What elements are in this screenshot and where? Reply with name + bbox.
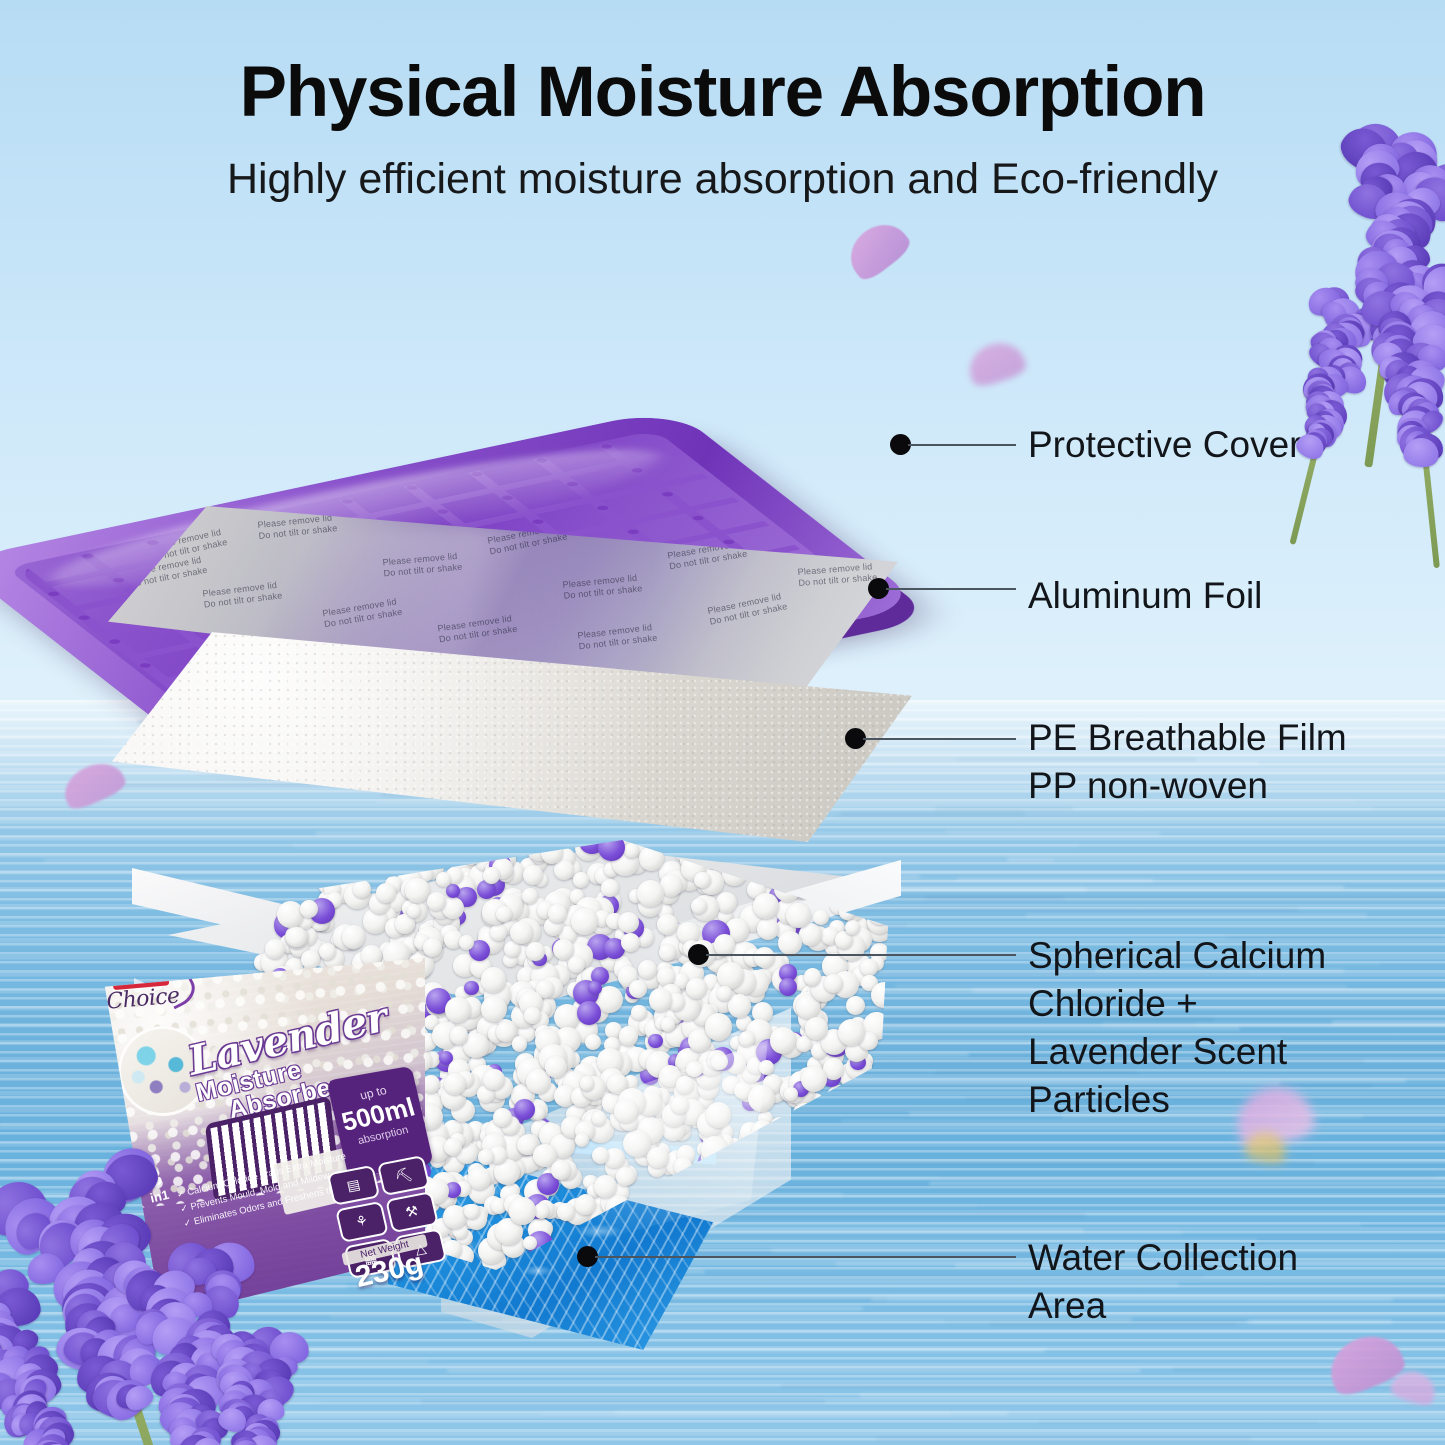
absorber-bead <box>786 903 811 928</box>
absorber-bead <box>811 1224 836 1249</box>
absorber-bead <box>795 1229 821 1255</box>
sea-ripple <box>834 814 1445 817</box>
product-infographic: Physical Moisture Absorption Highly effi… <box>0 0 1445 1445</box>
absorber-bead <box>819 1229 840 1250</box>
absorber-bead <box>436 872 451 887</box>
absorber-bead <box>839 1150 854 1165</box>
absorber-bead <box>746 1213 765 1232</box>
absorber-bead <box>758 1214 785 1241</box>
absorber-bead <box>859 1176 885 1202</box>
absorber-bead <box>857 1166 875 1184</box>
absorber-bead <box>575 1133 589 1147</box>
absorber-bead <box>805 844 830 869</box>
absorber-bead <box>624 843 639 858</box>
absorber-bead <box>807 841 834 868</box>
absorber-bead <box>601 879 619 897</box>
absorber-bead <box>806 1122 830 1146</box>
absorber-bead <box>860 1211 880 1231</box>
absorber-bead <box>865 1134 884 1153</box>
leader-line-water-collection <box>595 1256 1016 1258</box>
sea-ripple <box>1173 1368 1445 1371</box>
absorber-bead <box>512 1036 528 1052</box>
absorber-bead <box>739 1031 755 1047</box>
absorber-bead <box>826 1109 850 1133</box>
callout-aluminum-foil: Aluminum Foil <box>1028 572 1262 620</box>
absorber-bead <box>780 851 794 865</box>
absorber-bead <box>846 1137 867 1158</box>
absorber-bead <box>834 1228 857 1251</box>
absorber-bead <box>417 843 436 862</box>
absorber-bead <box>769 1203 795 1229</box>
sea-ripple <box>1038 1421 1319 1424</box>
foil-text-line: Please remove lidDo not tilt or shake <box>202 579 283 610</box>
absorber-bead <box>325 865 340 880</box>
absorber-bead <box>873 1125 889 1141</box>
absorber-bead <box>575 1195 596 1216</box>
absorber-bead <box>847 851 865 869</box>
absorber-bead <box>659 944 676 961</box>
absorber-bead <box>804 1142 821 1159</box>
absorber-bead <box>286 927 306 947</box>
absorber-bead <box>629 980 647 998</box>
absorber-bead <box>867 909 892 934</box>
absorber-bead <box>832 1097 856 1121</box>
absorber-bead <box>824 974 843 993</box>
absorber-bead <box>809 1236 826 1253</box>
callout-water-collection: Water Collection Area <box>1028 1234 1298 1330</box>
absorber-bead <box>523 865 543 885</box>
absorber-bead <box>444 1073 466 1095</box>
absorber-bead <box>377 849 403 875</box>
absorber-bead <box>822 1130 846 1154</box>
sea-ripple <box>615 1411 1445 1414</box>
absorber-bead <box>702 838 726 862</box>
page-subtitle: Highly efficient moisture absorption and… <box>0 155 1445 204</box>
absorber-bead <box>843 1120 869 1146</box>
absorber-bead <box>858 838 882 862</box>
absorber-bead <box>869 904 891 926</box>
absorber-bead <box>719 1221 736 1238</box>
absorber-bead <box>797 843 818 864</box>
absorber-bead <box>821 850 846 875</box>
absorber-bead <box>501 839 516 854</box>
absorber-bead <box>468 1167 491 1190</box>
absorber-bead <box>300 900 318 918</box>
leader-line-calcium-chloride <box>706 954 1016 956</box>
absorber-bead <box>815 1155 835 1175</box>
absorber-bead <box>588 981 602 995</box>
absorber-bead <box>872 1140 889 1157</box>
sea-ripple <box>946 830 1445 833</box>
absorber-bead <box>850 1113 874 1137</box>
absorber-bead <box>787 1232 812 1257</box>
absorber-bead <box>788 1184 805 1201</box>
absorber-bead <box>336 844 355 863</box>
absorber-bead <box>511 838 525 852</box>
absorber-bead <box>820 1209 841 1230</box>
absorber-bead <box>851 1121 874 1144</box>
absorber-bead <box>865 1228 880 1243</box>
absorber-bead <box>804 968 821 985</box>
absorber-bead <box>545 1056 567 1078</box>
absorber-bead <box>849 854 865 870</box>
absorber-bead <box>649 988 673 1012</box>
absorber-bead <box>775 1223 789 1237</box>
absorber-bead <box>459 935 474 950</box>
sea-ripple <box>860 1394 1445 1397</box>
absorber-bead <box>446 884 460 898</box>
absorber-bead <box>619 1026 639 1046</box>
absorber-bead <box>818 1140 845 1167</box>
absorber-bead <box>878 1218 893 1233</box>
absorber-bead <box>873 1163 891 1181</box>
absorber-bead <box>319 943 336 960</box>
absorber-bead <box>802 849 816 863</box>
absorber-bead <box>342 925 366 949</box>
absorber-bead <box>874 1182 892 1200</box>
sea-ripple <box>876 1437 1251 1440</box>
absorber-bead <box>813 841 831 859</box>
absorber-bead <box>753 893 779 919</box>
absorber-bead <box>815 1154 835 1174</box>
absorber-bead <box>813 910 828 925</box>
absorber-bead <box>820 1248 847 1275</box>
absorber-bead <box>324 857 347 880</box>
sea-ripple <box>421 1400 825 1403</box>
leader-line-protective-cover <box>908 444 1016 446</box>
absorber-bead <box>832 1107 858 1133</box>
absorber-bead <box>782 1223 806 1247</box>
absorber-bead <box>631 1005 646 1020</box>
page-title: Physical Moisture Absorption <box>0 52 1445 133</box>
absorber-bead <box>849 1117 873 1141</box>
absorber-bead <box>462 846 481 865</box>
absorber-bead <box>661 1017 676 1032</box>
absorber-bead <box>801 1066 828 1093</box>
absorber-bead <box>860 959 878 977</box>
absorber-bead <box>808 1181 828 1201</box>
absorber-bead <box>801 1159 820 1178</box>
absorber-bead <box>417 846 438 867</box>
absorber-bead <box>451 844 469 862</box>
absorber-bead <box>771 1219 798 1246</box>
absorber-bead <box>864 1210 882 1228</box>
absorber-bead <box>732 1225 748 1241</box>
absorber-bead <box>827 1178 843 1194</box>
absorber-bead <box>828 1229 845 1246</box>
absorber-bead <box>838 1019 865 1046</box>
absorber-bead <box>871 1199 892 1220</box>
absorber-bead <box>483 867 500 884</box>
callout-pe-breathable-film: PE Breathable Film PP non-woven <box>1028 714 1347 810</box>
absorber-bead <box>806 1175 825 1194</box>
absorber-bead <box>876 1233 899 1256</box>
absorber-bead <box>686 978 707 999</box>
absorber-bead <box>526 942 545 961</box>
absorber-bead <box>867 1074 884 1091</box>
absorber-bead <box>840 1196 858 1214</box>
absorber-bead <box>841 1179 856 1194</box>
absorber-bead <box>524 1007 540 1023</box>
lavender-sprig <box>178 1314 333 1445</box>
absorber-bead <box>810 1167 832 1189</box>
sea-ripple <box>938 1175 1434 1178</box>
absorber-bead <box>551 1160 572 1181</box>
absorber-bead <box>541 841 564 864</box>
foil-text-line: Please remove lidDo not tilt or shake <box>707 590 789 627</box>
absorber-bead <box>846 1155 868 1177</box>
absorber-bead <box>728 1214 746 1232</box>
absorber-bead <box>580 1076 595 1091</box>
absorber-bead <box>483 1069 504 1090</box>
absorber-bead <box>756 1232 771 1247</box>
absorber-bead <box>784 1087 798 1101</box>
absorber-bead <box>851 1233 877 1259</box>
absorber-bead <box>763 1220 786 1243</box>
absorber-bead <box>577 1001 601 1025</box>
sea-ripple <box>1007 858 1445 861</box>
leader-line-aluminum-foil <box>886 588 1016 590</box>
absorber-bead <box>481 996 507 1022</box>
absorber-bead <box>464 981 479 996</box>
absorber-bead <box>770 1027 796 1053</box>
absorber-bead <box>728 994 751 1017</box>
absorber-bead <box>842 1094 866 1118</box>
absorber-bead <box>880 1229 896 1245</box>
absorber-bead <box>423 938 442 957</box>
absorber-bead <box>762 1211 782 1231</box>
absorber-bead <box>407 904 421 918</box>
absorber-bead <box>509 1197 537 1225</box>
absorber-bead <box>427 892 446 911</box>
absorber-bead <box>876 1122 896 1142</box>
absorber-bead <box>826 1085 853 1112</box>
kitchen-icon: ⚒ <box>385 1191 439 1232</box>
absorber-bead <box>705 1013 733 1041</box>
absorber-bead <box>714 934 736 956</box>
absorber-bead <box>733 1213 759 1239</box>
absorber-bead <box>573 872 589 888</box>
absorber-bead <box>805 1017 828 1040</box>
absorber-bead <box>405 878 430 903</box>
absorber-bead <box>828 1193 849 1214</box>
absorber-bead <box>846 1179 868 1201</box>
bathroom-icon: ⚘ <box>335 1201 389 1242</box>
sea-ripple <box>929 1182 1445 1185</box>
absorber-bead <box>872 1121 887 1136</box>
absorber-bead <box>450 1026 468 1044</box>
absorber-bead <box>694 872 711 889</box>
absorber-bead <box>716 892 737 913</box>
absorber-bead <box>775 1191 796 1212</box>
sea-ripple <box>1026 914 1367 917</box>
absorber-bead <box>846 996 865 1015</box>
absorber-bead <box>522 888 538 904</box>
absorber-bead <box>807 1189 835 1217</box>
absorber-bead <box>347 846 373 872</box>
absorber-bead <box>837 1105 853 1121</box>
absorber-bead <box>788 840 805 857</box>
absorber-bead <box>717 986 732 1001</box>
absorber-bead <box>804 1167 824 1187</box>
absorber-bead <box>325 867 342 884</box>
absorber-bead <box>648 1034 662 1048</box>
absorber-bead <box>854 1107 878 1131</box>
absorber-bead <box>490 924 507 941</box>
absorber-bead <box>779 978 797 996</box>
leader-line-pe-film <box>863 738 1016 740</box>
absorber-bead <box>778 931 802 955</box>
sea-ripple <box>925 896 1064 899</box>
absorber-bead <box>621 933 640 952</box>
absorber-bead <box>444 1138 462 1156</box>
absorber-bead <box>717 840 740 863</box>
absorber-bead <box>820 1099 836 1115</box>
absorber-bead <box>866 1251 881 1266</box>
sea-ripple <box>957 878 1445 881</box>
absorber-bead <box>865 850 881 866</box>
absorber-bead <box>514 1099 535 1120</box>
callout-calcium-chloride: Spherical Calcium Chloride + Lavender Sc… <box>1028 932 1326 1124</box>
absorber-bead <box>832 1127 854 1149</box>
foil-text-line: Please remove lidDo not tilt or shake <box>797 561 878 589</box>
absorber-bead <box>837 1127 859 1149</box>
absorber-bead <box>848 1095 875 1122</box>
absorber-bead <box>585 1034 601 1050</box>
absorber-bead <box>637 880 664 907</box>
absorber-bead <box>379 837 403 861</box>
absorber-bead <box>873 1089 899 1115</box>
absorber-bead <box>782 1230 808 1256</box>
absorber-bead <box>481 967 507 993</box>
absorber-bead <box>404 854 420 870</box>
absorber-bead <box>639 846 664 871</box>
absorber-bead <box>827 1133 853 1159</box>
absorber-bead <box>822 1171 839 1188</box>
absorber-bead <box>792 1103 818 1129</box>
absorber-bead <box>301 950 320 969</box>
absorber-bead <box>839 1228 859 1248</box>
absorber-bead <box>827 1141 846 1160</box>
absorber-bead <box>757 918 779 940</box>
absorber-bead <box>869 1134 892 1157</box>
absorber-bead <box>657 967 676 986</box>
absorber-bead <box>800 1184 825 1209</box>
absorber-bead <box>809 1134 824 1149</box>
absorber-bead <box>805 847 821 863</box>
absorber-bead <box>871 982 897 1008</box>
